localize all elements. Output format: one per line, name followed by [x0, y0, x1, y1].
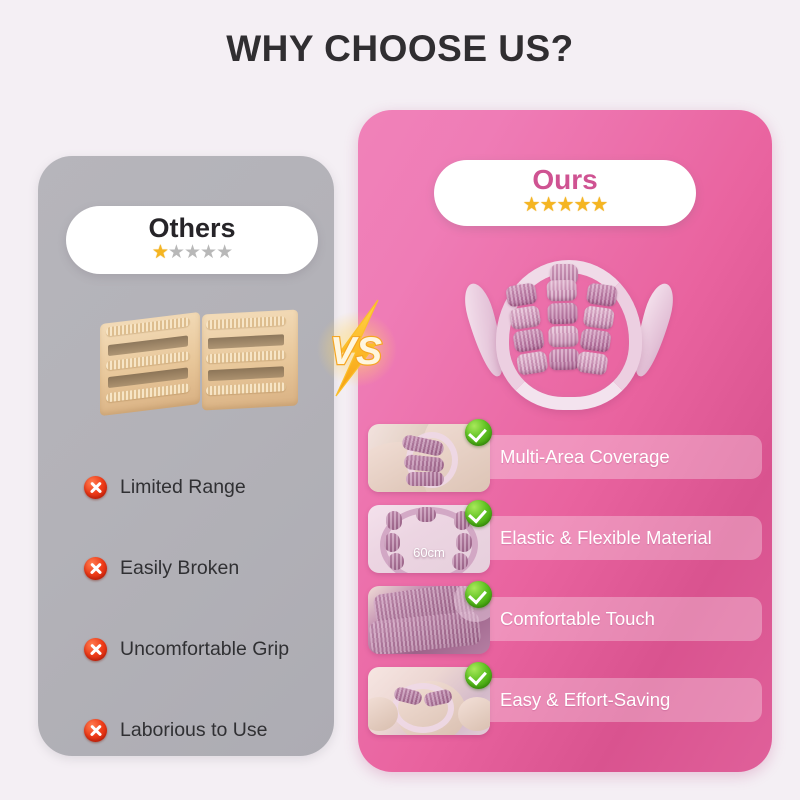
wood-block-right	[202, 309, 298, 410]
star-filled-1: ★	[523, 196, 540, 214]
pro-bar: Comfortable Touch	[490, 597, 762, 641]
massager-roller-bead	[548, 325, 579, 347]
list-item: Uncomfortable Grip	[84, 622, 324, 676]
massager-roller-bead	[579, 328, 612, 353]
massager-roller-bead	[512, 328, 545, 353]
star-filled-4: ★	[573, 196, 590, 214]
star-filled-2: ★	[540, 196, 557, 214]
star-filled-3: ★	[557, 196, 574, 214]
pro-bar: Multi-Area Coverage	[490, 435, 762, 479]
ours-header-pill: Ours ★★★★★	[434, 160, 696, 226]
ours-pros-list: Multi-Area Coverage 60cm Elastic & Flexi…	[368, 424, 772, 748]
list-item: Easily Broken	[84, 541, 324, 595]
massager-roller-bead	[586, 282, 619, 307]
massager-roller-bead	[505, 282, 538, 307]
ours-product-image	[470, 256, 668, 414]
list-item: Limited Range	[84, 460, 324, 514]
ours-heading: Ours	[434, 165, 696, 195]
star-empty-2: ★	[168, 244, 184, 262]
others-cons-list: Limited Range Easily Broken Uncomfortabl…	[84, 460, 324, 784]
list-item: Laborious to Use	[84, 703, 324, 757]
ours-star-rating: ★★★★★	[434, 196, 696, 214]
con-label: Limited Range	[120, 476, 246, 499]
wood-block-left	[100, 312, 200, 416]
pro-label: Multi-Area Coverage	[500, 446, 670, 468]
check-circle-icon	[465, 419, 492, 446]
con-label: Uncomfortable Grip	[120, 638, 289, 661]
page-title: WHY CHOOSE US?	[0, 28, 800, 70]
list-item: 60cm Elastic & Flexible Material	[368, 505, 772, 573]
massager-roller-bead	[576, 351, 609, 376]
massager-roller-bead	[516, 350, 549, 375]
wood-roller	[206, 350, 286, 363]
others-star-rating: ★★★★★	[66, 244, 318, 262]
pro-bar: Easy & Effort-Saving	[490, 678, 762, 722]
lightning-bolt-icon: VS	[316, 296, 398, 400]
x-circle-icon	[84, 557, 107, 580]
thumb-shape	[368, 697, 398, 731]
pro-label: Elastic & Flexible Material	[500, 527, 712, 549]
others-product-image	[98, 300, 310, 418]
x-circle-icon	[84, 719, 107, 742]
massager-roller-bead	[547, 302, 578, 324]
wood-slot	[208, 334, 284, 349]
thumb-shape	[416, 507, 436, 522]
massager-roller-column	[546, 280, 579, 373]
vs-label-text: VS	[330, 330, 382, 373]
list-item: Easy & Effort-Saving	[368, 667, 772, 735]
x-circle-icon	[84, 476, 107, 499]
thumb-shape	[458, 697, 490, 731]
wood-roller	[206, 382, 286, 395]
massager-roller-bead	[549, 348, 580, 370]
thumb-shape	[386, 511, 402, 530]
wood-slot	[208, 366, 284, 381]
pro-label: Comfortable Touch	[500, 608, 655, 630]
massager-roller-bead	[509, 305, 542, 330]
vs-badge: VS	[316, 296, 398, 400]
wood-roller	[106, 317, 190, 336]
thumb-caption: 60cm	[368, 545, 490, 560]
check-circle-icon	[465, 662, 492, 689]
check-circle-icon	[465, 581, 492, 608]
star-empty-3: ★	[184, 244, 200, 262]
massager-roller-bead	[546, 280, 577, 302]
thumb-shape	[406, 472, 444, 486]
pro-label: Easy & Effort-Saving	[500, 689, 670, 711]
star-filled-1: ★	[152, 244, 168, 262]
x-circle-icon	[84, 638, 107, 661]
star-empty-5: ★	[216, 244, 232, 262]
check-circle-icon	[465, 500, 492, 527]
pro-bar: Elastic & Flexible Material	[490, 516, 762, 560]
list-item: Comfortable Touch	[368, 586, 772, 654]
massager-roller-bead	[582, 305, 615, 330]
list-item: Multi-Area Coverage	[368, 424, 772, 492]
star-filled-5: ★	[590, 196, 607, 214]
con-label: Laborious to Use	[120, 719, 267, 742]
others-header-pill: Others ★★★★★	[66, 206, 318, 274]
wood-roller	[206, 316, 286, 329]
others-heading: Others	[66, 213, 318, 243]
star-empty-4: ★	[200, 244, 216, 262]
con-label: Easily Broken	[120, 557, 239, 580]
